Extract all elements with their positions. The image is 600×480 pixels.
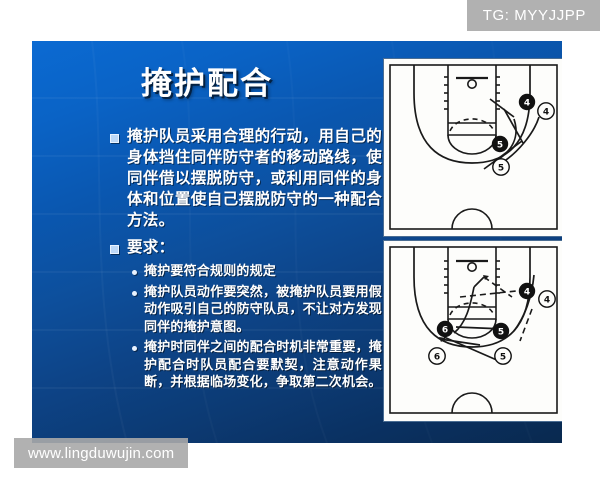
court-diagram-bottom-svg: 4 4 5 5 6 6 xyxy=(384,241,562,421)
court-diagram-bottom: 4 4 5 5 6 6 xyxy=(383,240,562,422)
bullet-item: 要求： xyxy=(110,236,382,257)
list-item: 掩护要符合规则的规定 xyxy=(132,263,382,281)
player-label: 5 xyxy=(497,141,503,151)
sub-bullet-text: 掩护时同伴之间的配合时机非常重要，掩护配合时队员配合要默契，注意动作果断，并根据… xyxy=(144,339,382,392)
slide-body: 掩护队员采用合理的行动，用自己的身体挡住同伴防守者的移动路线，使同伴借以摆脱防守… xyxy=(110,125,382,395)
player-label: 5 xyxy=(500,353,506,363)
dot-bullet-icon xyxy=(132,291,137,296)
player-label: 4 xyxy=(544,296,550,306)
player-label: 6 xyxy=(434,353,440,363)
list-item: 掩护队员动作要突然，被掩护队员要用假动作吸引自己的防守队员，不让对方发现同伴的掩… xyxy=(132,284,382,337)
court-diagram-top: 4 4 5 5 xyxy=(383,58,562,237)
player-label: 5 xyxy=(498,164,504,174)
player-label: 6 xyxy=(442,326,448,336)
court-diagram-top-svg: 4 4 5 5 xyxy=(384,59,562,236)
square-bullet-icon xyxy=(110,245,119,254)
player-label: 4 xyxy=(524,288,530,298)
dot-bullet-icon xyxy=(132,346,137,351)
sub-bullet-text: 掩护队员动作要突然，被掩护队员要用假动作吸引自己的防守队员，不让对方发现同伴的掩… xyxy=(144,284,382,337)
player-label: 4 xyxy=(524,99,530,109)
sub-bullet-text: 掩护要符合规则的规定 xyxy=(144,263,276,281)
player-label: 4 xyxy=(543,108,549,118)
bullet-item: 掩护队员采用合理的行动，用自己的身体挡住同伴防守者的移动路线，使同伴借以摆脱防守… xyxy=(110,125,382,230)
sub-bullet-list: 掩护要符合规则的规定 掩护队员动作要突然，被掩护队员要用假动作吸引自己的防守队员… xyxy=(132,263,382,392)
bullet-text: 掩护队员采用合理的行动，用自己的身体挡住同伴防守者的移动路线，使同伴借以摆脱防守… xyxy=(127,125,382,230)
bullet-text: 要求： xyxy=(127,236,174,257)
square-bullet-icon xyxy=(110,134,119,143)
watermark-website: www.lingduwujin.com xyxy=(14,438,188,468)
list-item: 掩护时同伴之间的配合时机非常重要，掩护配合时队员配合要默契，注意动作果断，并根据… xyxy=(132,339,382,392)
player-label: 5 xyxy=(498,328,504,338)
dot-bullet-icon xyxy=(132,270,137,275)
presentation-slide: 掩护配合 掩护队员采用合理的行动，用自己的身体挡住同伴防守者的移动路线，使同伴借… xyxy=(32,41,562,443)
slide-title: 掩护配合 xyxy=(32,58,382,103)
watermark-telegram: TG: MYYJJPP xyxy=(467,0,600,31)
